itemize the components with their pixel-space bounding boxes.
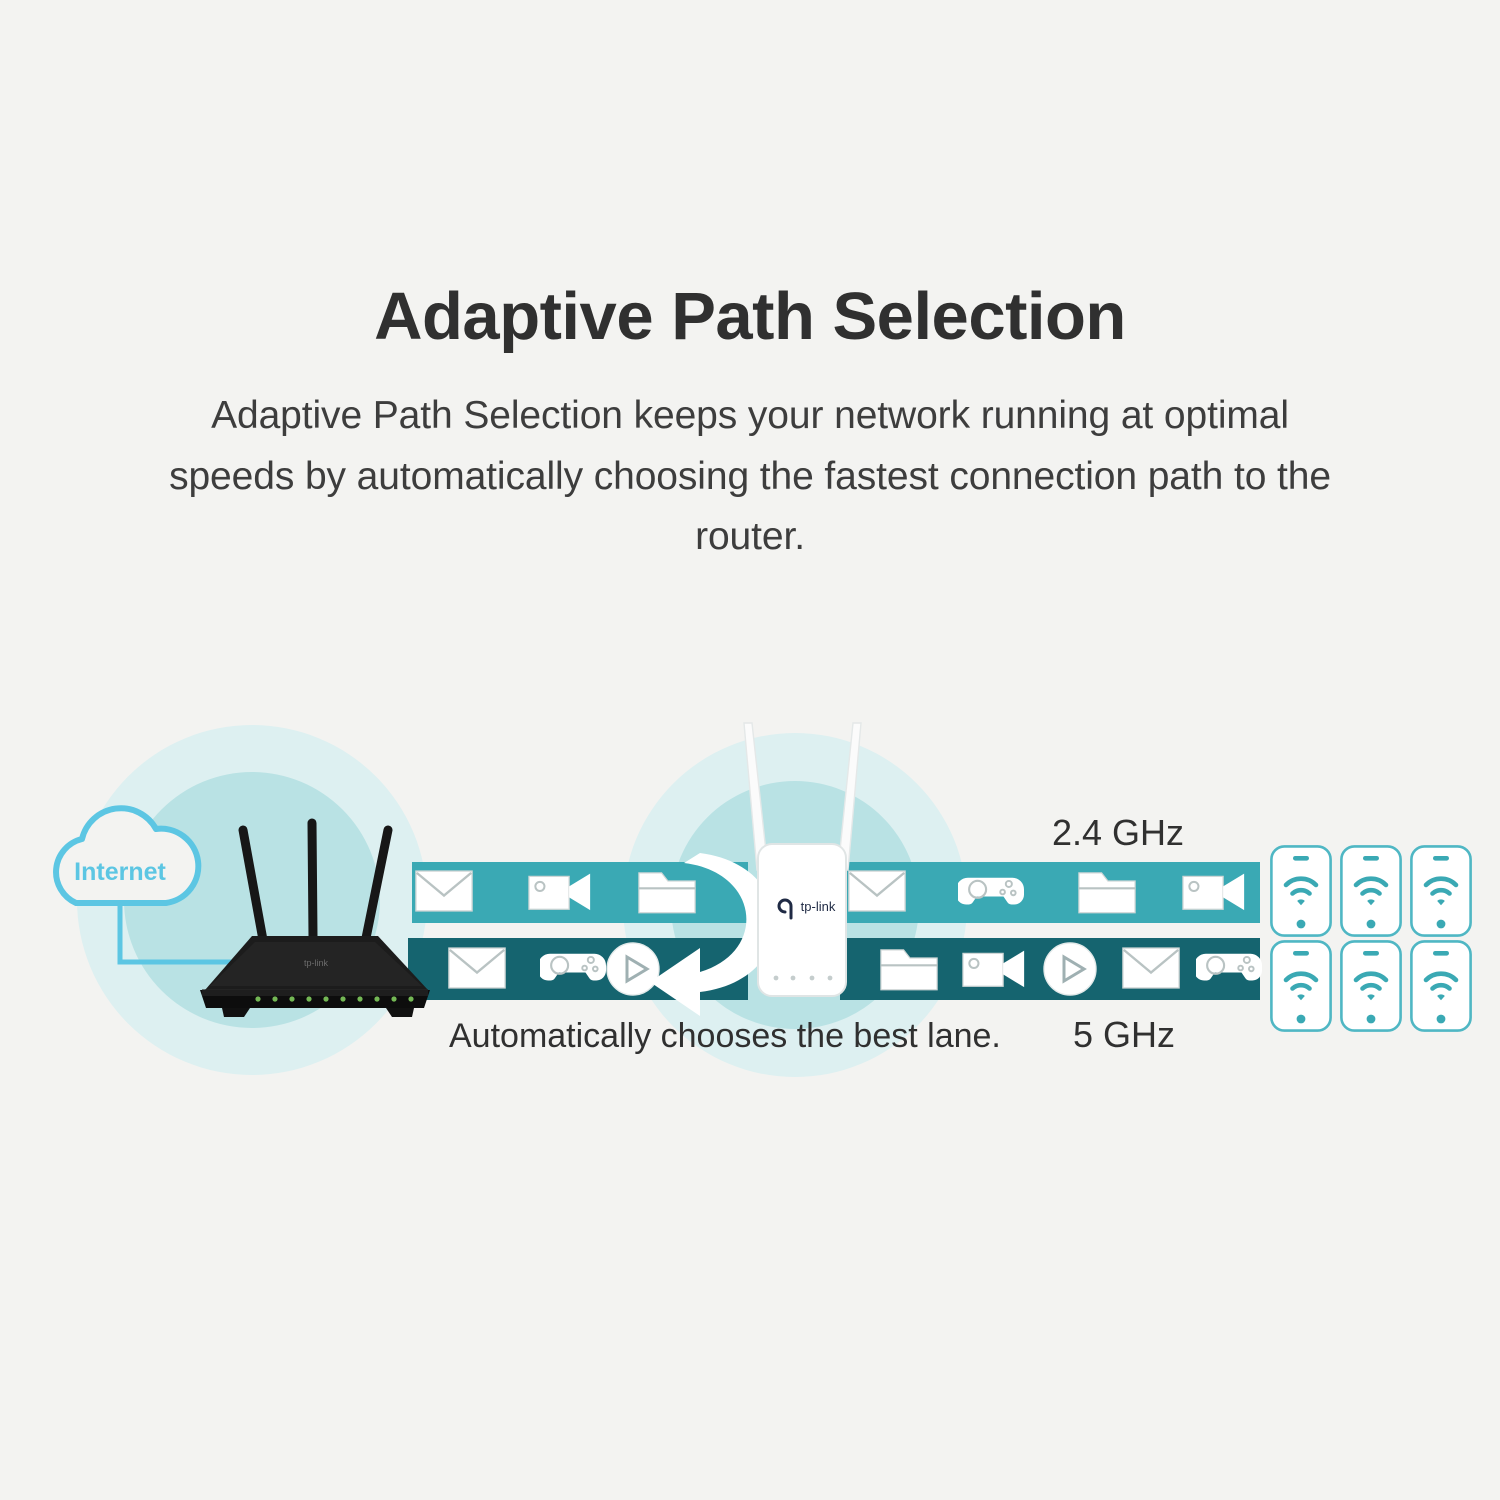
extender-brand-label: tp-link [801,899,836,914]
page-subtitle: Adaptive Path Selection keeps your netwo… [160,386,1340,567]
product-feature-graphic: Adaptive Path Selection Adaptive Path Se… [0,0,1500,1500]
phone-wifi-icon [1411,941,1470,1030]
band-label-5ghz: 5 GHz [1073,1014,1175,1055]
cloud-label: Internet [74,858,166,886]
envelope-icon [449,948,505,988]
page-title: Adaptive Path Selection [0,282,1500,352]
headline-block: Adaptive Path Selection Adaptive Path Se… [0,282,1500,568]
network-diagram: Internet [0,690,1500,1110]
phone-wifi-icon [1271,941,1330,1030]
phone-wifi-icon [1271,846,1330,935]
band-label-2-4ghz: 2.4 GHz [1052,812,1184,853]
play-circle-icon [607,943,659,995]
play-circle-icon [1044,943,1096,995]
phone-wifi-icon [1411,846,1470,935]
diagram-caption: Automatically chooses the best lane. [449,1017,1001,1055]
phone-wifi-icon [1341,941,1400,1030]
router-brand-label: tp-link [304,958,329,968]
phone-wifi-icon [1341,846,1400,935]
client-device-grid [1271,846,1470,1030]
envelope-icon [849,871,905,911]
envelope-icon [416,871,472,911]
envelope-icon [1123,948,1179,988]
